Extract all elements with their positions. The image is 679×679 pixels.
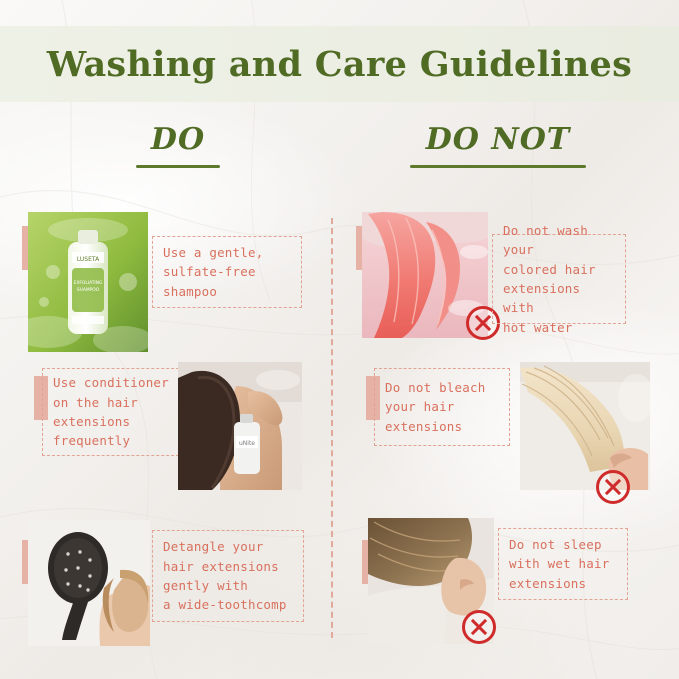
callout-do-2-text: Use conditioner on the hair extensions f… [53,373,183,451]
header-band: Washing and Care Guidelines [0,26,679,102]
callout-dont-3: Do not sleep with wet hair extensions [498,528,628,600]
column-heading-do-not-label: DO NOT [398,122,598,157]
blonde-bleached-hair-photo [520,362,650,490]
svg-text:LUSETA: LUSETA [77,256,100,263]
callout-dont-2: Do not bleach your hair extensions [374,368,510,446]
svg-text:SHAMPOO: SHAMPOO [77,287,100,293]
page-title: Washing and Care Guidelines [47,44,632,85]
column-heading-do-label: DO [118,122,238,157]
callout-dont-2-text: Do not bleach your hair extensions [385,378,485,436]
callout-do-1-text: Use a gentle, sulfate-free shampoo [163,243,263,301]
shampoo-bottle-photo: LUSETA EXFOLIATING SHAMPOO [28,212,148,352]
callout-do-3-text: Detangle your hair extensions gently wit… [163,537,287,615]
callout-dont-1: Do not wash your colored hair extensions… [492,234,626,324]
hair-brush-photo [28,520,150,646]
column-heading-do-underline [136,165,220,168]
no-symbol-icon-2 [596,470,630,504]
callout-do-2: Use conditioner on the hair extensions f… [42,368,194,456]
column-divider [331,218,333,638]
no-symbol-icon-3 [462,610,496,644]
svg-text:uNite: uNite [239,440,255,447]
callout-dont-1-text: Do not wash your colored hair extensions… [503,221,615,337]
svg-text:EXFOLIATING: EXFOLIATING [74,280,103,286]
applying-conditioner-photo: uNite [178,362,302,490]
callout-dont-3-text: Do not sleep with wet hair extensions [509,535,609,593]
column-heading-do: DO [118,122,238,168]
callout-do-1: Use a gentle, sulfate-free shampoo [152,236,302,308]
callout-do-3: Detangle your hair extensions gently wit… [152,530,304,622]
column-heading-do-not: DO NOT [398,122,598,168]
column-heading-do-not-underline [410,165,586,168]
